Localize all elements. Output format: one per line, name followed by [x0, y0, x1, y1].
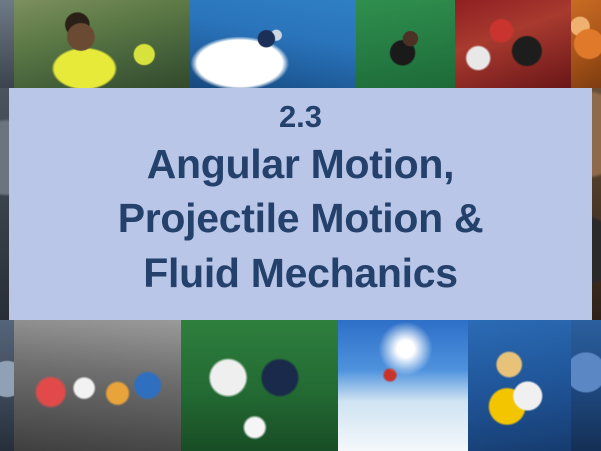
photo-basketball-image: [571, 0, 601, 88]
photo-grey-sliver-image: [0, 0, 14, 88]
photo-tennis: [14, 0, 190, 88]
photo-bottom-right: [571, 320, 601, 451]
photo-skiing: [338, 320, 468, 451]
page-title: Angular Motion, Projectile Motion & Flui…: [9, 137, 592, 301]
slide-number: 2.3: [279, 100, 322, 135]
photo-grey-sliver: [0, 0, 14, 88]
photo-track-running: [14, 320, 181, 451]
photo-track-running-image: [14, 320, 181, 451]
page-title-line-3: Fluid Mechanics: [9, 246, 592, 301]
photo-skiing-image: [338, 320, 468, 451]
photo-netball-image: [468, 320, 571, 451]
photo-bottom-left-image: [0, 320, 14, 451]
page-title-line-2: Projectile Motion &: [9, 191, 592, 246]
photo-basketball: [571, 0, 601, 88]
photo-bottom-left: [0, 320, 14, 451]
photo-swimming: [190, 0, 356, 88]
title-band: 2.3 Angular Motion, Projectile Motion & …: [9, 88, 592, 320]
presentation-slide: 2.3 Angular Motion, Projectile Motion & …: [0, 0, 601, 451]
page-title-line-1: Angular Motion,: [9, 137, 592, 192]
photo-bottom-right-image: [571, 320, 601, 451]
photo-tennis-image: [14, 0, 190, 88]
photo-badminton: [356, 0, 455, 88]
photo-wheelchair-racing: [455, 0, 571, 88]
photo-swimming-image: [190, 0, 356, 88]
photo-netball: [468, 320, 571, 451]
photo-wheelchair-racing-image: [455, 0, 571, 88]
photo-football: [181, 320, 338, 451]
photo-badminton-image: [356, 0, 455, 88]
photo-football-image: [181, 320, 338, 451]
